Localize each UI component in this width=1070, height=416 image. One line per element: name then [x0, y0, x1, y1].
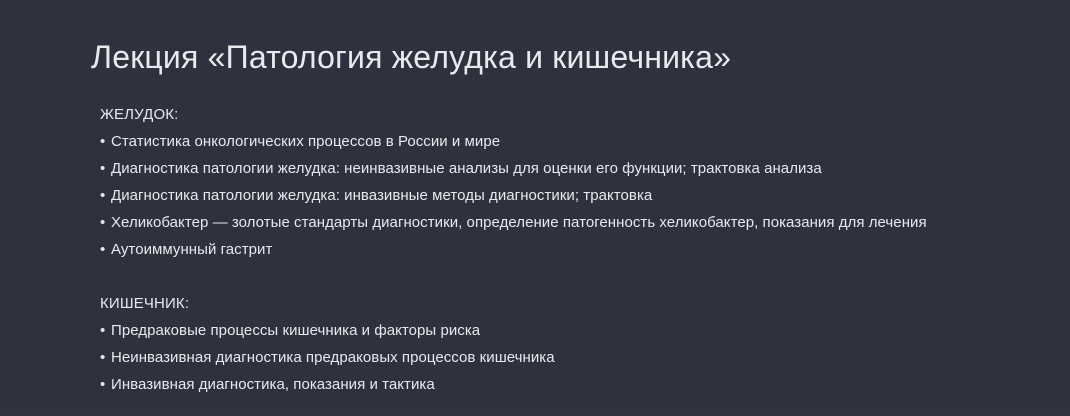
list-item: • Неинвазивная диагностика предраковых п… — [100, 344, 990, 371]
list-item: • Диагностика патологии желудка: инвазив… — [100, 182, 990, 209]
slide-content: ЖЕЛУДОК: • Статистика онкологических про… — [100, 101, 990, 398]
bullet-dot-icon: • — [100, 182, 105, 209]
bullet-list-intestine: • Предраковые процессы кишечника и факто… — [100, 317, 990, 398]
slide-title: Лекция «Патология желудка и кишечника» — [91, 37, 731, 77]
bullet-dot-icon: • — [100, 209, 105, 236]
list-item: • Статистика онкологических процессов в … — [100, 128, 990, 155]
list-item: • Предраковые процессы кишечника и факто… — [100, 317, 990, 344]
list-item: • Хеликобактер — золотые стандарты диагн… — [100, 209, 990, 236]
bullet-list-stomach: • Статистика онкологических процессов в … — [100, 128, 990, 263]
section-stomach: ЖЕЛУДОК: • Статистика онкологических про… — [100, 101, 990, 263]
list-item-text: Диагностика патологии желудка: инвазивны… — [111, 187, 652, 204]
list-item: • Диагностика патологии желудка: неинваз… — [100, 155, 990, 182]
list-item-text: Аутоиммунный гастрит — [111, 241, 272, 258]
bullet-dot-icon: • — [100, 128, 105, 155]
list-item-text: Хеликобактер — золотые стандарты диагнос… — [111, 214, 927, 231]
list-item-text: Диагностика патологии желудка: неинвазив… — [111, 160, 822, 177]
bottom-edge-band — [0, 408, 1070, 416]
list-item-text: Предраковые процессы кишечника и факторы… — [111, 322, 480, 339]
bullet-dot-icon: • — [100, 317, 105, 344]
section-heading-intestine: КИШЕЧНИК: — [100, 290, 990, 317]
list-item: • Аутоиммунный гастрит — [100, 236, 990, 263]
section-spacer — [100, 263, 990, 290]
list-item-text: Статистика онкологических процессов в Ро… — [111, 133, 500, 150]
bullet-dot-icon: • — [100, 236, 105, 263]
presentation-slide: Лекция «Патология желудка и кишечника» Ж… — [0, 0, 1070, 416]
bullet-dot-icon: • — [100, 371, 105, 398]
list-item: • Инвазивная диагностика, показания и та… — [100, 371, 990, 398]
bullet-dot-icon: • — [100, 344, 105, 371]
bullet-dot-icon: • — [100, 155, 105, 182]
section-heading-stomach: ЖЕЛУДОК: — [100, 101, 990, 128]
section-intestine: КИШЕЧНИК: • Предраковые процессы кишечни… — [100, 290, 990, 398]
list-item-text: Неинвазивная диагностика предраковых про… — [111, 349, 555, 366]
list-item-text: Инвазивная диагностика, показания и такт… — [111, 376, 435, 393]
